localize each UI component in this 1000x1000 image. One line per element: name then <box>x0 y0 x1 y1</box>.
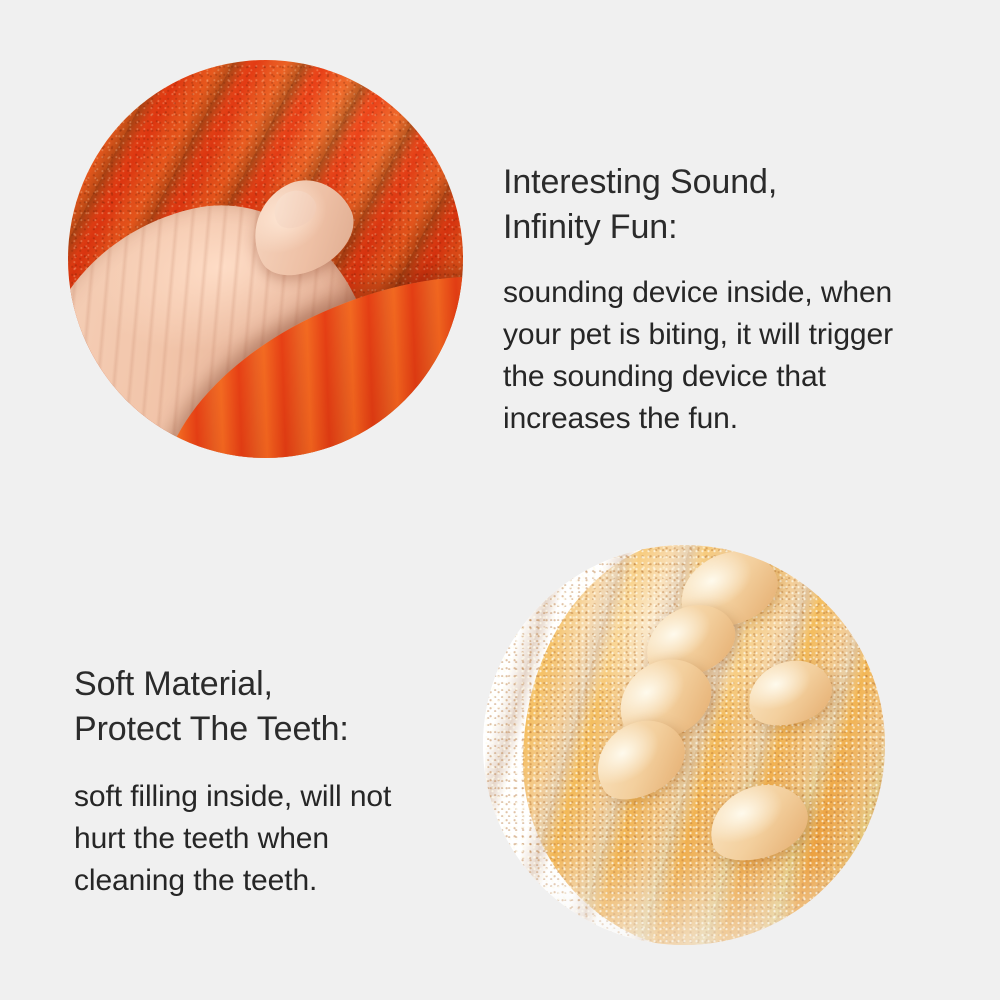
apricot-plush-photo <box>483 545 885 945</box>
orange-plush-photo <box>68 60 463 458</box>
feature-text-soft-material: Soft Material, Protect The Teeth: soft f… <box>74 662 474 902</box>
feature-text-interesting-sound: Interesting Sound, Infinity Fun: soundin… <box>503 160 953 440</box>
feature-body-interesting-sound: sounding device inside, when your pet is… <box>503 272 953 440</box>
feature-heading-interesting-sound: Interesting Sound, Infinity Fun: <box>503 160 953 250</box>
feature-image-soft-material <box>483 545 885 945</box>
feature-image-interesting-sound <box>68 60 463 458</box>
photo-bottom-shade <box>483 857 885 945</box>
product-feature-infographic: Interesting Sound, Infinity Fun: soundin… <box>0 0 1000 1000</box>
feature-heading-soft-material: Soft Material, Protect The Teeth: <box>74 662 474 752</box>
feature-body-soft-material: soft filling inside, will not hurt the t… <box>74 776 474 902</box>
